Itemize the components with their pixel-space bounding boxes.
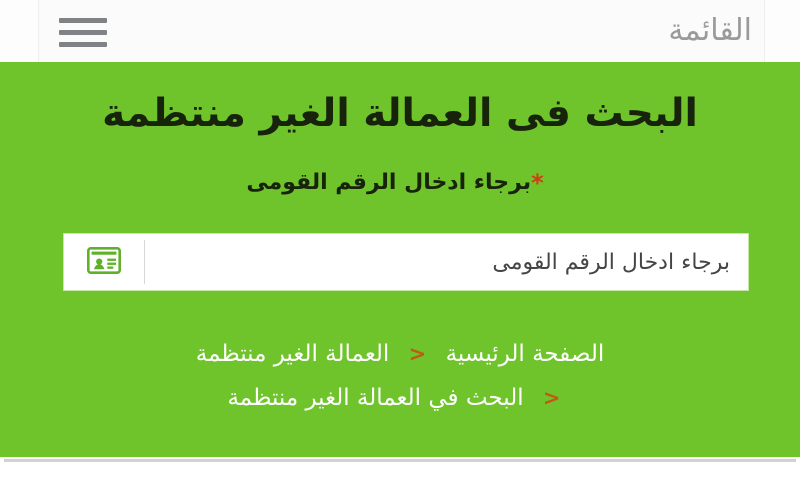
- breadcrumb-item-informal-labor[interactable]: العمالة الغير منتظمة: [196, 341, 390, 367]
- required-asterisk: *: [531, 169, 544, 197]
- breadcrumb-line-2: < البحث في العمالة الغير منتظمة: [0, 376, 800, 420]
- field-label-row: *برجاء ادخال الرقم القومى: [0, 167, 800, 199]
- page-title: البحث فى العمالة الغير منتظمة: [0, 88, 800, 140]
- input-divider: [144, 240, 145, 284]
- page-root: القائمة البحث فى العمالة الغير منتظمة *ب…: [0, 0, 800, 500]
- id-card-icon: [87, 247, 121, 278]
- national-id-input-group: [64, 234, 748, 290]
- breadcrumb-item-home[interactable]: الصفحة الرئيسية: [446, 341, 605, 367]
- hamburger-bar-2: [59, 30, 107, 35]
- breadcrumb-item-current: البحث في العمالة الغير منتظمة: [227, 385, 523, 411]
- field-label: برجاء ادخال الرقم القومى: [246, 170, 531, 195]
- breadcrumb-separator-icon-2: <: [543, 376, 561, 420]
- hamburger-bar-3: [59, 42, 107, 47]
- id-card-button[interactable]: [64, 234, 144, 290]
- hamburger-menu-icon[interactable]: [55, 14, 107, 50]
- hero-panel: البحث فى العمالة الغير منتظمة *برجاء ادخ…: [0, 62, 800, 457]
- breadcrumb: الصفحة الرئيسية < العمالة الغير منتظمة <…: [0, 332, 800, 420]
- hamburger-bar-1: [59, 18, 107, 23]
- top-navbar: القائمة: [38, 0, 765, 62]
- breadcrumb-separator-icon: <: [409, 332, 427, 376]
- national-id-input[interactable]: [145, 234, 748, 290]
- footer-area: [0, 462, 800, 500]
- breadcrumb-line-1: الصفحة الرئيسية < العمالة الغير منتظمة: [0, 332, 800, 376]
- menu-label[interactable]: القائمة: [668, 10, 752, 52]
